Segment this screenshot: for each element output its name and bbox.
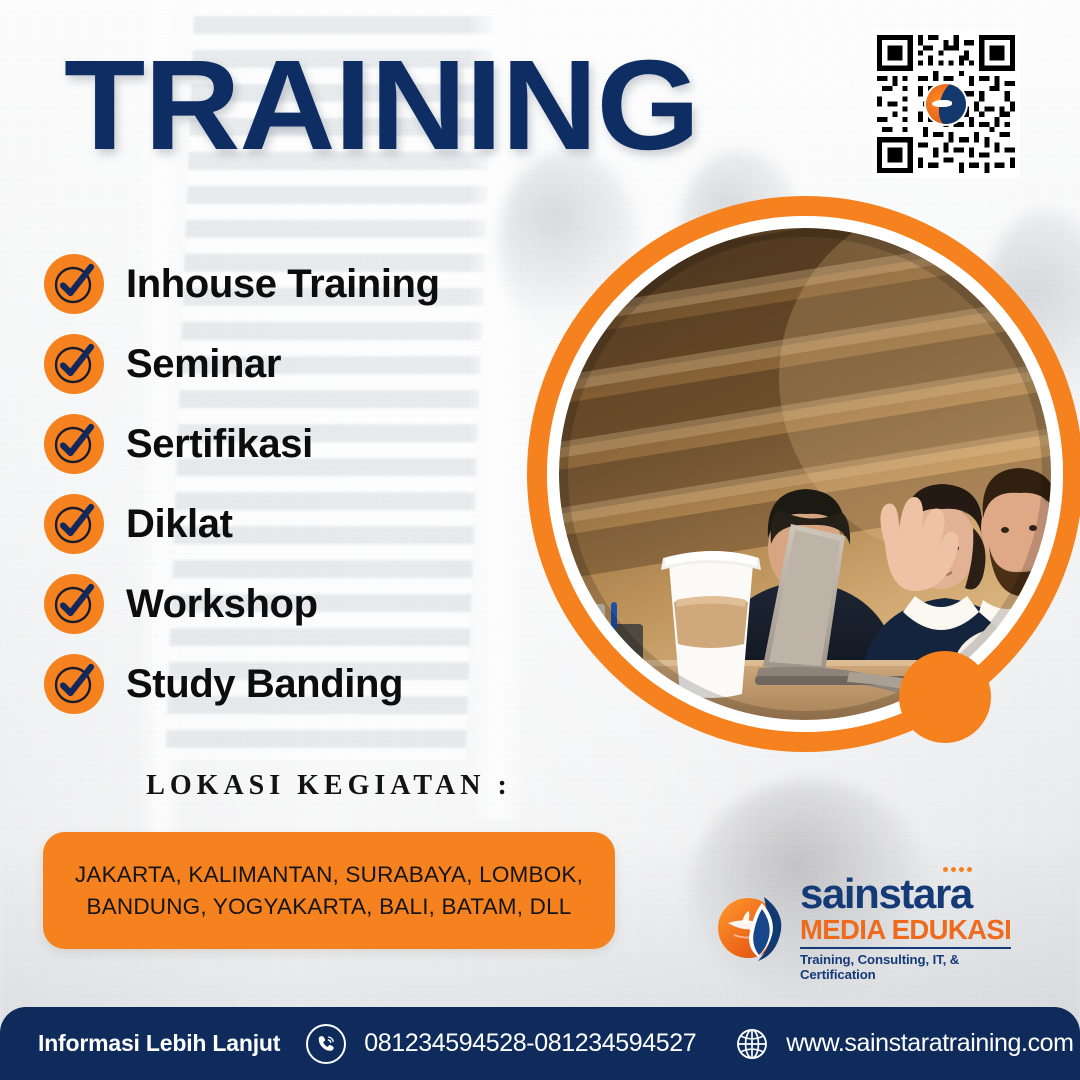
- list-item: Diklat: [44, 492, 604, 556]
- orange-accent-dot: [899, 651, 991, 743]
- service-label: Diklat: [126, 502, 233, 547]
- service-label: Sertifikasi: [126, 422, 313, 467]
- list-item: Sertifikasi: [44, 412, 604, 476]
- contact-footer: Informasi Lebih Lanjut 081234594528-0812…: [0, 1007, 1080, 1080]
- service-label: Study Banding: [126, 662, 403, 707]
- check-circle-icon: [44, 574, 104, 634]
- qr-center-logo-icon: [926, 84, 966, 124]
- check-circle-icon: [44, 654, 104, 714]
- list-item: Study Banding: [44, 652, 604, 716]
- page-title: TRAINING: [64, 42, 699, 170]
- lokasi-line-2: BANDUNG, YOGYAKARTA, BALI, BATAM, DLL: [75, 891, 583, 923]
- brand-name: sainstara: [800, 874, 972, 914]
- services-checklist: Inhouse Training Seminar Sertifikasi Dik…: [44, 252, 604, 732]
- service-label: Inhouse Training: [126, 262, 440, 307]
- lokasi-line-1: JAKARTA, KALIMANTAN, SURABAYA, LOMBOK,: [75, 859, 583, 891]
- check-circle-icon: [44, 414, 104, 474]
- check-circle-icon: [44, 494, 104, 554]
- phone-icon[interactable]: [306, 1024, 346, 1064]
- hero-photo: [527, 196, 1080, 752]
- lokasi-heading: LOKASI KEGIATAN :: [44, 770, 614, 802]
- globe-icon: [732, 1024, 772, 1064]
- list-item: Seminar: [44, 332, 604, 396]
- brand-subtitle: MEDIA EDUKASI: [800, 916, 1011, 949]
- list-item: Workshop: [44, 572, 604, 636]
- service-label: Seminar: [126, 342, 281, 387]
- photo-white-gap: [547, 216, 1063, 732]
- check-circle-icon: [44, 334, 104, 394]
- footer-phone[interactable]: 081234594528-081234594527: [364, 1029, 696, 1058]
- brand-name-text: sainstara: [800, 870, 972, 917]
- check-circle-icon: [44, 254, 104, 314]
- brand-dots-icon: [943, 867, 972, 872]
- list-item: Inhouse Training: [44, 252, 604, 316]
- qr-code-icon[interactable]: [872, 30, 1020, 178]
- lokasi-box: JAKARTA, KALIMANTAN, SURABAYA, LOMBOK, B…: [43, 832, 615, 949]
- lokasi-cities: JAKARTA, KALIMANTAN, SURABAYA, LOMBOK, B…: [59, 859, 599, 923]
- brand-text: sainstara MEDIA EDUKASI Training, Consul…: [800, 874, 1012, 981]
- footer-label: Informasi Lebih Lanjut: [38, 1030, 280, 1057]
- service-label: Workshop: [126, 582, 318, 627]
- brand-tagline: Training, Consulting, IT, & Certificatio…: [800, 952, 1012, 982]
- footer-website[interactable]: www.sainstaratraining.com: [786, 1029, 1073, 1058]
- brand-logo: sainstara MEDIA EDUKASI Training, Consul…: [712, 876, 1012, 980]
- sainstara-emblem-icon: [712, 887, 794, 969]
